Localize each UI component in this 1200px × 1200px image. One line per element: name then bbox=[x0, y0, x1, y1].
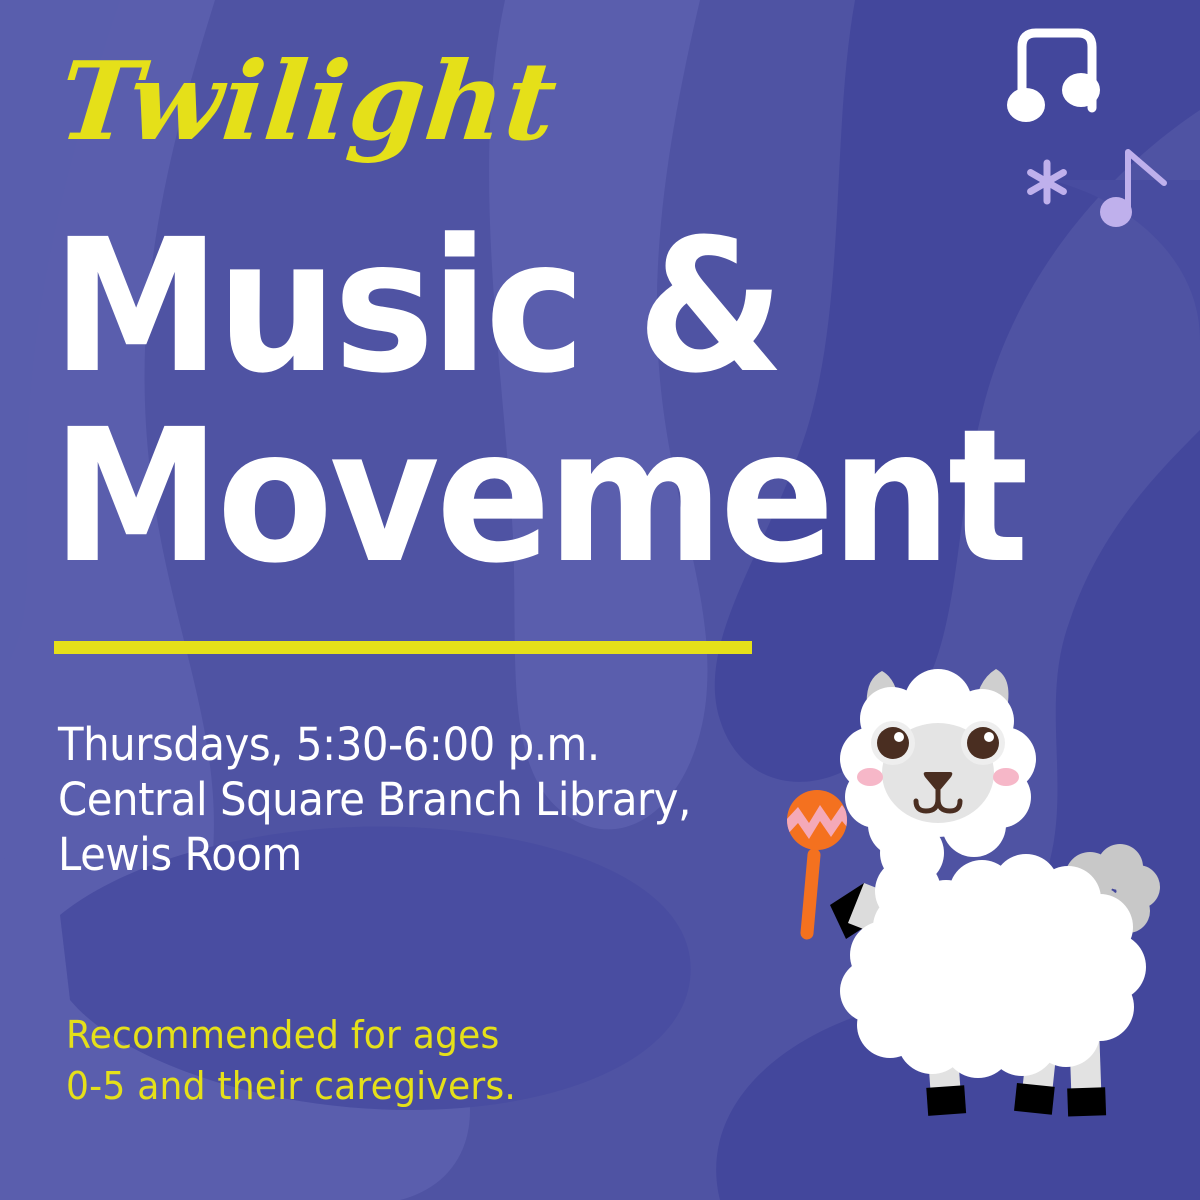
poster-title-line-2: Movement bbox=[52, 412, 1025, 583]
event-details-line-2: Central Square Branch Library, bbox=[58, 773, 728, 828]
poster-title-line-1: Music & bbox=[52, 222, 781, 393]
event-details-line-3: Lewis Room bbox=[58, 828, 728, 883]
event-poster: Twilight Music & Movement Thursdays, 5:3… bbox=[0, 0, 1200, 1200]
event-details: Thursdays, 5:30-6:00 p.m. Central Square… bbox=[58, 718, 728, 883]
poster-eyebrow: Twilight bbox=[54, 48, 562, 156]
age-note-line-2: 0-5 and their caregivers. bbox=[66, 1061, 674, 1112]
yellow-divider-rule bbox=[54, 641, 752, 654]
age-note-line-1: Recommended for ages bbox=[66, 1010, 674, 1061]
age-recommendation-note: Recommended for ages 0-5 and their careg… bbox=[66, 1010, 674, 1113]
event-details-line-1: Thursdays, 5:30-6:00 p.m. bbox=[58, 718, 728, 773]
